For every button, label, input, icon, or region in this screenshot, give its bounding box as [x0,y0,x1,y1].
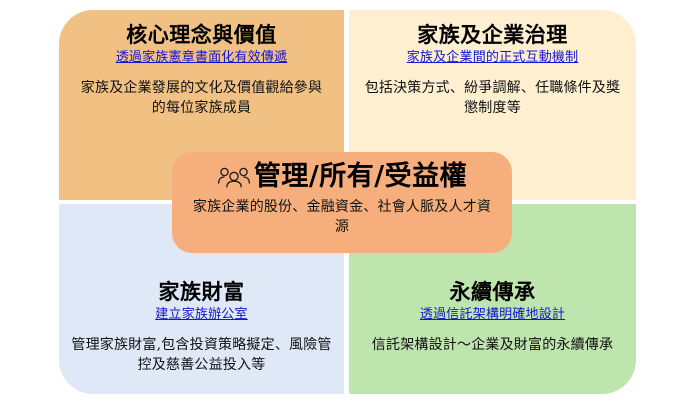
quadrant-title: 核心理念與價值 [126,23,277,48]
center-description: 家族企業的股份、金融資金、社會人脈及人才資源 [192,197,492,238]
quadrant-description: 管理家族財富,包含投資策略擬定、風險管控及慈善公益投入等 [69,335,335,376]
quadrant-title: 家族及企業治理 [417,23,568,48]
quadrant-title: 永續傳承 [450,280,536,305]
quadrant-description: 家族及企業發展的文化及價值觀給參與的每位家族成員 [76,78,328,119]
center-title: 管理/所有/受益權 [254,163,467,190]
quadrant-description: 包括決策方式、紛爭調解、任職條件及獎懲制度等 [364,78,622,119]
quadrant-link[interactable]: 建立家族辦公室 [155,307,247,324]
four-quadrant-diagram: 核心理念與價值 透過家族憲章書面化有效傳遞 家族及企業發展的文化及價值觀給參與的… [0,0,695,404]
quadrant-link[interactable]: 透過信託架構明確地設計 [420,307,565,324]
quadrant-link[interactable]: 家族及企業間的正式互動機制 [407,50,579,67]
quadrant-title: 家族財富 [159,280,245,305]
center-title-row: 管理/所有/受益權 [217,159,467,193]
people-group-icon [217,166,251,188]
center-ownership-box: 管理/所有/受益權 家族企業的股份、金融資金、社會人脈及人才資源 [172,152,512,253]
quadrant-description: 信託架構設計～企業及財富的永續傳承 [356,335,630,355]
quadrant-link[interactable]: 透過家族憲章書面化有效傳遞 [116,50,288,67]
